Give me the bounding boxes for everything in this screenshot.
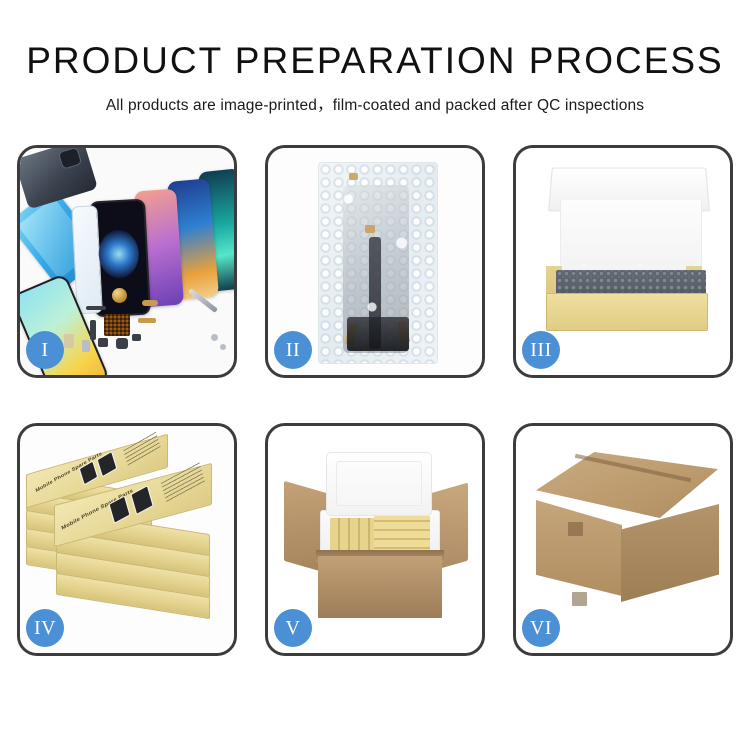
page-title: PRODUCT PREPARATION PROCESS bbox=[0, 0, 750, 82]
part-flex-gold-2 bbox=[138, 318, 156, 323]
step-badge-4: IV bbox=[26, 609, 64, 647]
step-badge-5: V bbox=[274, 609, 312, 647]
page-header: PRODUCT PREPARATION PROCESS All products… bbox=[0, 0, 750, 130]
carton-handle-tab-bottom bbox=[572, 592, 587, 606]
step-card-6[interactable]: VI bbox=[513, 423, 733, 656]
bubble-wrap-bag bbox=[318, 162, 438, 364]
box-spec-text-front bbox=[161, 462, 205, 502]
step-card-1[interactable]: I bbox=[17, 145, 237, 378]
part-camera-ring bbox=[112, 288, 127, 303]
connector-top bbox=[349, 173, 358, 180]
carton-handle-tab-top bbox=[568, 522, 583, 536]
part-speaker-mesh bbox=[86, 306, 106, 310]
step-badge-2: II bbox=[274, 331, 312, 369]
box-window-front-2 bbox=[130, 485, 153, 515]
part-connector-2 bbox=[132, 334, 141, 341]
box-inner-white-liner bbox=[560, 200, 702, 278]
part-screw-2 bbox=[220, 344, 226, 350]
process-step-grid: I II III bbox=[17, 145, 733, 690]
foam-box-lid bbox=[326, 452, 432, 516]
part-battery-connector bbox=[64, 334, 74, 348]
box-spec-text-rear bbox=[123, 432, 161, 467]
step-card-2[interactable]: II bbox=[265, 145, 485, 378]
wrapped-part-base bbox=[347, 317, 409, 351]
step-card-3[interactable]: III bbox=[513, 145, 733, 378]
part-flex-cable-1 bbox=[90, 320, 96, 340]
part-screw-1 bbox=[211, 334, 218, 341]
part-sim-tray bbox=[82, 340, 90, 352]
step-badge-6: VI bbox=[522, 609, 560, 647]
box-front-kraft-panel bbox=[546, 293, 708, 331]
carton-right-face bbox=[621, 504, 719, 602]
page-subtitle: All products are image-printed，film-coat… bbox=[0, 82, 750, 115]
step-card-5[interactable]: V bbox=[265, 423, 485, 656]
step-card-4[interactable]: Mobile Phone Spare Parts Mobile Phone Sp… bbox=[17, 423, 237, 656]
carton-body bbox=[318, 556, 442, 618]
part-logic-board bbox=[104, 314, 130, 336]
phone-back-housing bbox=[20, 148, 98, 209]
step-badge-3: III bbox=[522, 331, 560, 369]
part-connector-1 bbox=[98, 338, 108, 347]
connector-middle bbox=[365, 225, 375, 233]
step-badge-1: I bbox=[26, 331, 64, 369]
part-flex-gold-1 bbox=[142, 300, 158, 306]
part-camera-module bbox=[116, 338, 128, 349]
carton-left-face bbox=[536, 500, 622, 596]
